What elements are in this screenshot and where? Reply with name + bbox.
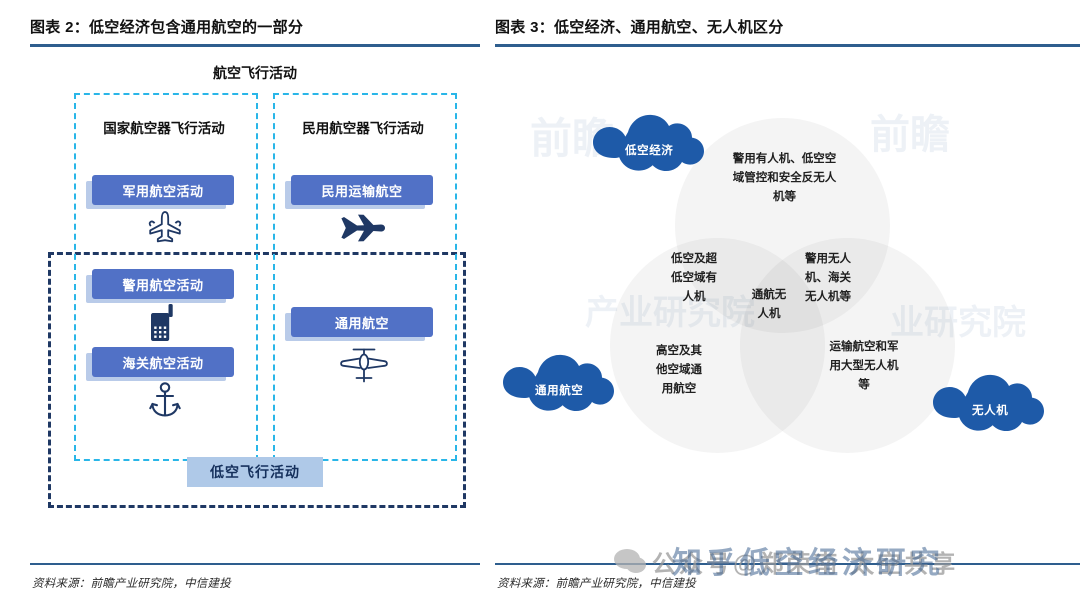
anchor-icon (149, 382, 181, 420)
diagram-title: 航空飞行活动 (30, 63, 480, 83)
cloud-label-low-altitude-economy: 低空经济 (625, 142, 673, 158)
venn-region-top-right: 警用无人机、海关无人机等 (788, 250, 868, 307)
airplane-top-outline-icon (145, 210, 185, 246)
wechat-logo-icon (614, 549, 640, 569)
venn-diagram: 前瞻 前瞻 产业研究院 业研究院 警用有人机、低空空域管控和安全反无人机等 低空… (490, 90, 1080, 510)
box-civil-transport-aviation: 民用运输航空 (291, 175, 433, 205)
right-panel: 图表 3：低空经济、通用航空、无人机区分 前瞻 前瞻 产业研究院 业研究院 警用… (490, 0, 1080, 611)
state-aircraft-column-heading: 国家航空器飞行活动 (74, 117, 254, 137)
venn-region-top-left: 低空及超低空域有人机 (658, 250, 730, 307)
venn-region-left-only: 高空及其他空域通用航空 (640, 342, 718, 399)
left-figure-title: 图表 2：低空经济包含通用航空的一部分 (30, 16, 303, 37)
venn-region-top-only: 警用有人机、低空空域管控和安全反无人机等 (697, 150, 872, 207)
right-figure-title: 图表 3：低空经济、通用航空、无人机区分 (495, 16, 784, 37)
box-police-aviation: 警用航空活动 (92, 269, 234, 299)
box-general-aviation: 通用航空 (291, 307, 433, 337)
cloud-label-general-aviation: 通用航空 (535, 382, 583, 398)
page-root: 图表 2：低空经济包含通用航空的一部分 航空飞行活动 国家航空器飞行活动 民用航… (0, 0, 1080, 611)
watermark-institute-top-right: 前瞻 (870, 102, 950, 160)
left-panel: 图表 2：低空经济包含通用航空的一部分 航空飞行活动 国家航空器飞行活动 民用航… (0, 0, 500, 611)
aviation-activity-diagram: 航空飞行活动 国家航空器飞行活动 民用航空器飞行活动 军用航空活动 民用运输航空 (30, 55, 480, 510)
box-customs-aviation: 海关航空活动 (92, 347, 234, 377)
right-title-rule (495, 44, 1080, 47)
venn-region-center: 通航无人机 (738, 286, 800, 324)
walkie-talkie-icon (151, 304, 179, 342)
watermark-blue-text: 知乎低空经济研究 (672, 538, 944, 582)
propeller-plane-outline-icon (340, 345, 388, 385)
cloud-label-uav: 无人机 (972, 402, 1008, 418)
left-title-rule (30, 44, 480, 47)
box-low-altitude-flight-activity: 低空飞行活动 (187, 457, 323, 487)
civil-aircraft-column-heading: 民用航空器飞行活动 (273, 117, 453, 137)
jet-solid-icon (340, 211, 386, 245)
venn-region-right-only: 运输航空和军用大型无人机等 (815, 338, 913, 395)
box-military-aviation: 军用航空活动 (92, 175, 234, 205)
left-source-text: 资料来源：前瞻产业研究院，中信建投 (32, 575, 231, 591)
civil-aircraft-column-border (273, 93, 457, 461)
left-source-rule (30, 563, 480, 565)
